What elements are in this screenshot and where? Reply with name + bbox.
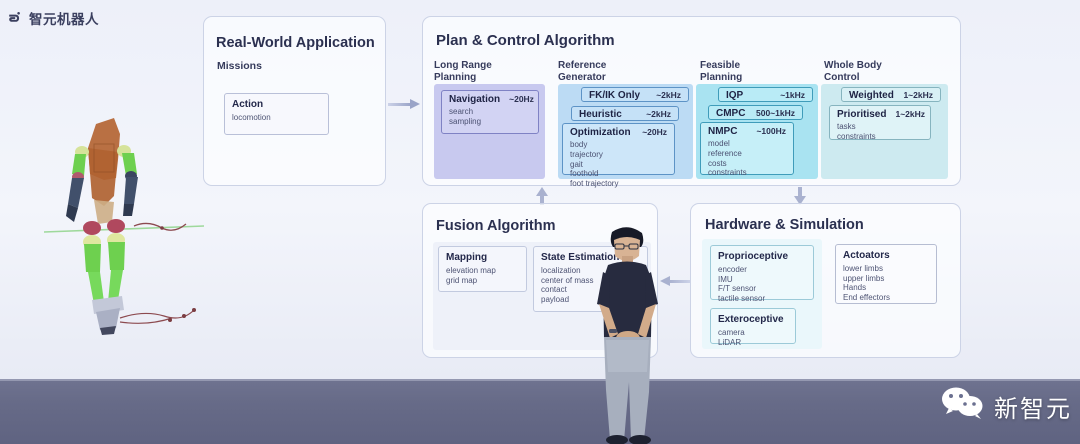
stage-floor [0, 379, 1080, 444]
panel-plan-control-algorithm[interactable]: Plan & Control Algorithm Long Range Plan… [422, 16, 961, 186]
card-name: Weighted [849, 90, 894, 101]
panel-real-world-application[interactable]: Real-World Application Missions Action l… [203, 16, 386, 186]
agibot-logo-icon [6, 10, 23, 27]
card-items: lower limbsupper limbsHandsEnd effectors [843, 264, 929, 302]
card-title: Action [232, 99, 321, 111]
card-name: NMPC [708, 126, 737, 137]
card-title: Exteroceptive [718, 314, 788, 326]
card-heuristic[interactable]: Heuristic ~2kHz [571, 106, 679, 121]
card-name: Navigation [449, 94, 500, 105]
card-nmpc[interactable]: NMPC ~100Hz modelreferencecostsconstrain… [700, 122, 794, 175]
card-name: Optimization [570, 127, 631, 138]
card-frequency: ~100Hz [756, 126, 786, 136]
column-heading-long-range-planning: Long Range Planning [434, 60, 492, 83]
card-items: locomotion [232, 113, 321, 123]
card-items: searchsampling [449, 107, 531, 127]
watermark-text: 新智元 [994, 389, 1072, 424]
card-actoators[interactable]: Actoators lower limbsupper limbsHandsEnd… [835, 244, 937, 304]
panel-title: Plan & Control Algorithm [436, 32, 615, 49]
card-items: modelreferencecostsconstraints [708, 139, 786, 178]
arrow-rwa-to-plan [388, 99, 420, 109]
column-heading-whole-body-control: Whole Body Control [824, 60, 882, 83]
card-frequency: ~2kHz [646, 109, 671, 119]
missions-label: Missions [217, 60, 262, 72]
presenter-person [583, 222, 671, 444]
card-iqp[interactable]: IQP ~1kHz [718, 87, 813, 102]
card-title: Mapping [446, 252, 519, 264]
card-optimization[interactable]: Optimization ~20Hz bodytrajectorygaitfoo… [562, 123, 675, 175]
card-fk-ik-only[interactable]: FK/IK Only ~2kHz [581, 87, 689, 102]
brand-logo: 智元机器人 [6, 8, 99, 28]
channel-watermark: 新智元 [941, 387, 1072, 426]
robot-simulation-figure [44, 104, 204, 336]
card-name: FK/IK Only [589, 90, 640, 101]
card-name: Prioritised [837, 109, 886, 120]
panel-title: Real-World Application [216, 35, 375, 51]
brand-name: 智元机器人 [29, 8, 99, 28]
card-name: Heuristic [579, 109, 622, 120]
video-frame: 智元机器人 [0, 0, 1080, 444]
panel-title: Hardware & Simulation [705, 217, 864, 233]
card-frequency: ~1kHz [780, 90, 805, 100]
card-mapping[interactable]: Mapping elevation mapgrid map [438, 246, 527, 292]
card-frequency: ~20Hz [642, 127, 667, 137]
panel-title: Fusion Algorithm [436, 218, 555, 234]
card-items: bodytrajectorygaitfootholdfoot trajector… [570, 140, 667, 189]
card-frequency: 500~1kHz [756, 108, 795, 118]
card-navigation[interactable]: Navigation ~20Hz searchsampling [441, 90, 539, 134]
card-title: Actoators [843, 250, 929, 262]
column-heading-feasible-planning: Feasible Planning [700, 60, 742, 83]
card-action[interactable]: Action locomotion [224, 93, 329, 135]
card-items: elevation mapgrid map [446, 266, 519, 285]
card-name: CMPC [716, 108, 745, 119]
card-weighted[interactable]: Weighted 1~2kHz [841, 87, 941, 102]
card-items: encoderIMUF/T sensortactile sensor [718, 265, 806, 303]
card-frequency: ~20Hz [509, 94, 534, 104]
card-frequency: 1~2kHz [903, 90, 933, 100]
card-title: Proprioceptive [718, 251, 806, 263]
wechat-icon [941, 387, 985, 426]
panel-hardware-simulation[interactable]: Hardware & Simulation Proprioceptive enc… [690, 203, 961, 358]
card-prioritised[interactable]: Prioritised 1~2kHz tasksconstraints [829, 105, 931, 140]
card-proprioceptive[interactable]: Proprioceptive encoderIMUF/T sensortacti… [710, 245, 814, 300]
card-items: tasksconstraints [837, 122, 923, 142]
card-frequency: 1~2kHz [895, 109, 925, 119]
card-items: cameraLiDAR [718, 328, 788, 347]
card-exteroceptive[interactable]: Exteroceptive cameraLiDAR [710, 308, 796, 344]
card-name: IQP [726, 90, 743, 101]
card-frequency: ~2kHz [656, 90, 681, 100]
card-cmpc[interactable]: CMPC 500~1kHz [708, 105, 803, 120]
column-heading-reference-generator: Reference Generator [558, 60, 606, 83]
